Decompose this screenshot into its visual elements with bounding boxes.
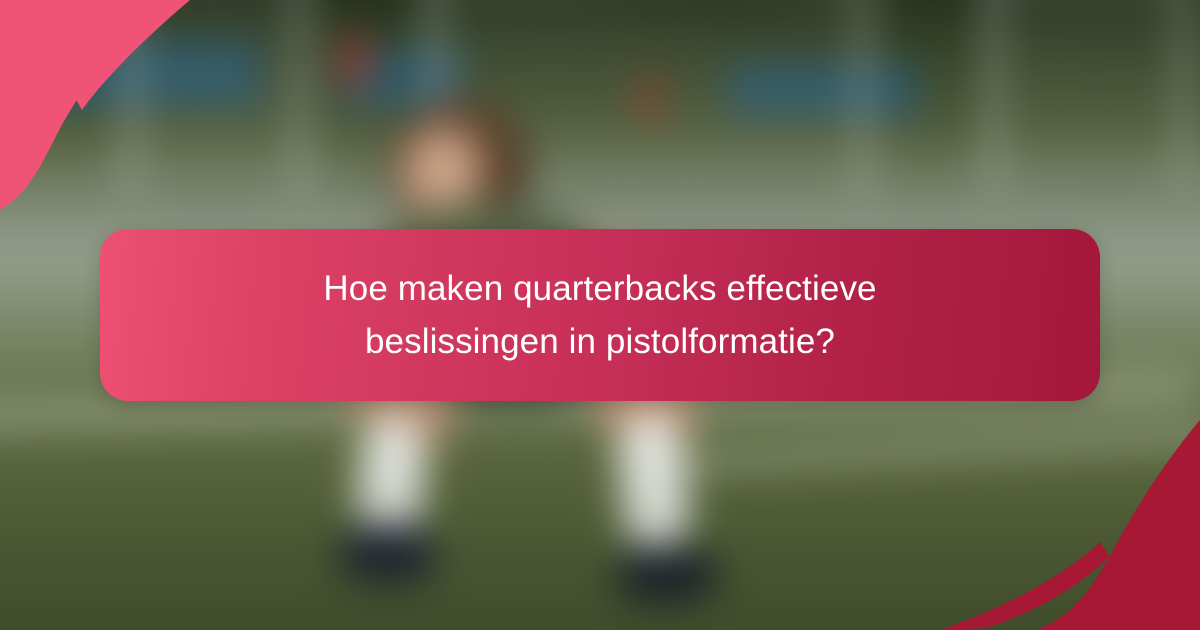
player-left-boot	[337, 524, 435, 583]
distant-player	[337, 32, 373, 93]
distant-player	[638, 74, 661, 123]
headline-card: Hoe maken quarterbacks effectieve beslis…	[100, 229, 1100, 401]
goal-net	[129, 0, 296, 182]
player-right-boot	[617, 545, 719, 602]
headline-title: Hoe maken quarterbacks effectieve beslis…	[280, 262, 920, 368]
og-image-card: Hoe maken quarterbacks effectieve beslis…	[0, 0, 1200, 630]
goal-post	[857, 0, 871, 197]
goal-net	[992, 0, 1181, 185]
